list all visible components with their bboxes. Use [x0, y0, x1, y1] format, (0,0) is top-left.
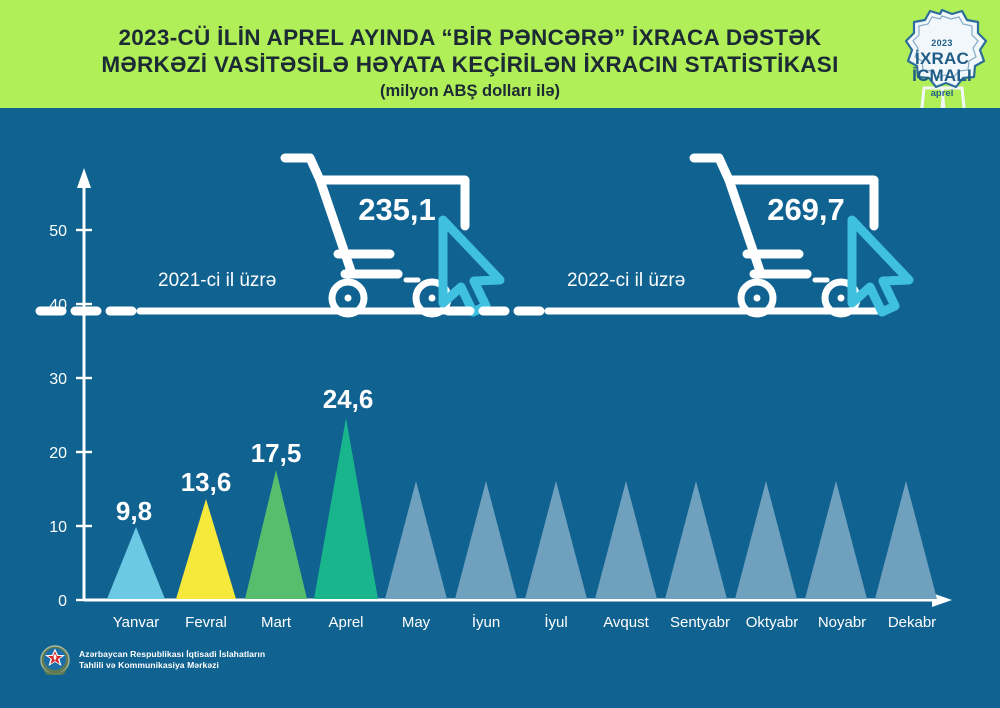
xtick-label-avqust: Avqust	[603, 614, 649, 631]
ytick-label-30: 30	[49, 371, 67, 388]
xtick-label-oktyabr: Oktyabr	[746, 614, 799, 631]
title-line-1: 2023-CÜ İLİN APREL AYINDA “BİR PƏNCƏRƏ” …	[60, 24, 880, 51]
cart-value-2021: 235,1	[358, 192, 436, 227]
xtick-label-mart: Mart	[261, 614, 292, 631]
cart-value-2022: 269,7	[767, 192, 845, 227]
footer-org-text: Azərbaycan Respublikası İqtisadi İslahat…	[79, 649, 265, 672]
ytick-label-0: 0	[58, 593, 67, 610]
badge-year: 2023	[890, 38, 994, 48]
page-title: 2023-CÜ İLİN APREL AYINDA “BİR PƏNCƏRƏ” …	[60, 24, 880, 101]
xtick-label-noyabr: Noyabr	[818, 614, 866, 631]
badge-month: aprel	[890, 88, 994, 99]
ytick-label-50: 50	[49, 223, 67, 240]
footer-org-line-2: Tahlili və Kommunikasiya Mərkəzi	[79, 660, 265, 672]
xtick-label-fevral: Fevral	[185, 614, 227, 631]
xtick-label-dekabr: Dekabr	[888, 614, 936, 631]
bar-value-mart: 17,5	[251, 438, 302, 468]
year-label-2021: 2021-ci il üzrə	[158, 270, 276, 291]
bar-value-fevral: 13,6	[181, 467, 232, 497]
azerbaijan-emblem-icon	[40, 645, 70, 675]
footer-org-line-1: Azərbaycan Respublikası İqtisadi İslahat…	[79, 649, 265, 661]
title-subtitle: (milyon ABŞ dolları ilə)	[60, 82, 880, 101]
xtick-label-aprel: Aprel	[328, 614, 363, 631]
xtick-label-may: May	[402, 614, 431, 631]
xtick-label-iyun: İyun	[472, 613, 500, 631]
xtick-label-sentyabr: Sentyabr	[670, 614, 730, 631]
title-line-2: MƏRKƏZİ VASİTƏSİLƏ HƏYATA KEÇİRİLƏN İXRA…	[60, 51, 880, 78]
xtick-label-iyul: İyul	[544, 613, 567, 631]
chart-canvas: 0 10 20 30 40 50	[0, 108, 1000, 708]
bar-value-aprel: 24,6	[323, 384, 374, 414]
ytick-label-10: 10	[49, 519, 67, 536]
infographic-root: 2023-CÜ İLİN APREL AYINDA “BİR PƏNCƏRƏ” …	[0, 0, 1000, 708]
year-label-2022: 2022-ci il üzrə	[567, 270, 685, 291]
xtick-label-yanvar: Yanvar	[113, 614, 159, 631]
badge-main-line-2: İCMALI	[890, 66, 994, 86]
footer: Azərbaycan Respublikası İqtisadi İslahat…	[40, 645, 265, 675]
ytick-label-20: 20	[49, 445, 67, 462]
bar-value-yanvar: 9,8	[116, 496, 152, 526]
